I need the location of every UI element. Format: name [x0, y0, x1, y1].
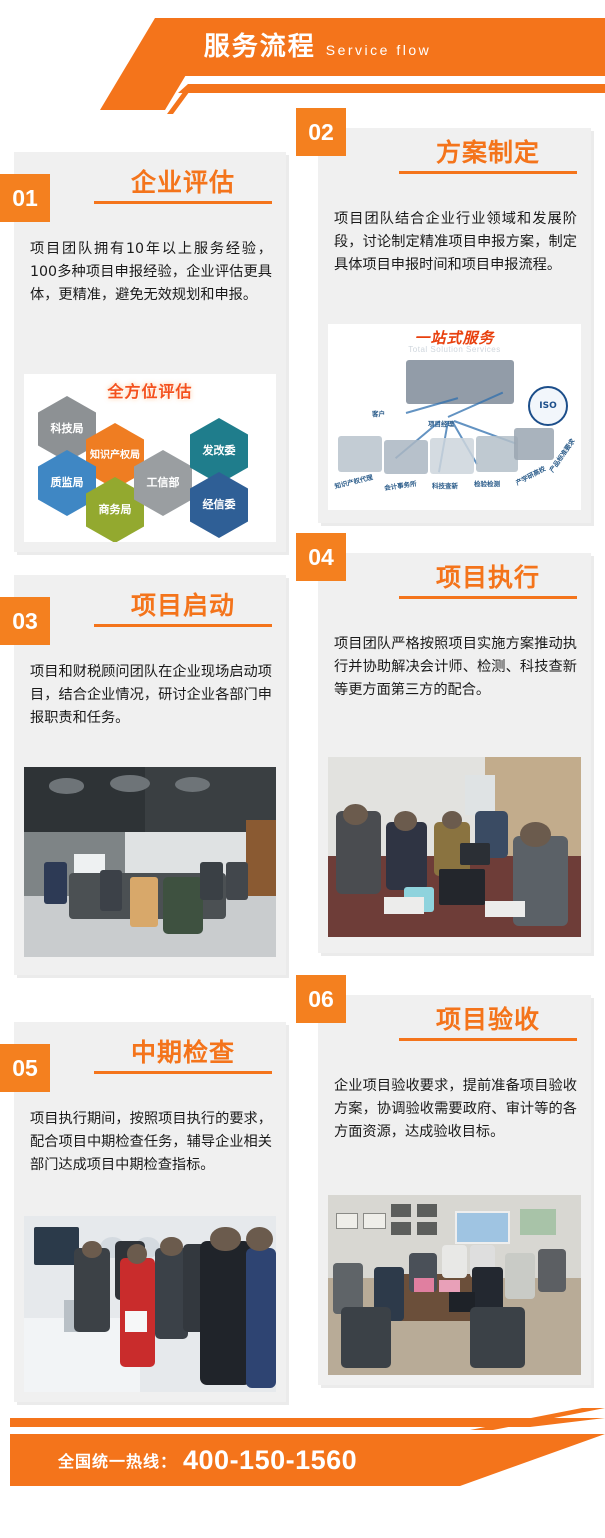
service-thumb-4 [476, 436, 518, 472]
page-header: 服务流程 Service flow [0, 0, 605, 108]
title-underline-01 [94, 201, 272, 204]
service-flow-page: 服务流程 Service flow 01 企业评估 项目团队拥有10年以上服务经… [0, 0, 605, 1538]
step-body-02: 项目团队结合企业行业领域和发展阶段，讨论制定精准项目申报方案，制定具体项目申报时… [334, 208, 577, 277]
step-body-03: 项目和财税顾问团队在企业现场启动项目，结合企业情况，研讨企业各部门申报职责和任务… [30, 661, 272, 730]
conference-room-meeting-photo [24, 767, 276, 957]
service-node-kehu: 客户 [372, 408, 385, 418]
step-title-01: 企业评估 [94, 170, 272, 196]
step-number-badge-04: 04 [296, 533, 346, 581]
header-stripe [178, 84, 605, 93]
step-title-05: 中期检查 [94, 1040, 272, 1066]
step-number-badge-01: 01 [0, 174, 50, 222]
title-underline-06 [399, 1038, 577, 1041]
title-underline-03 [94, 624, 272, 627]
step-title-group-01: 企业评估 [94, 170, 272, 204]
showroom-site-visit-photo [24, 1216, 276, 1392]
step-body-04: 项目团队严格按照项目实施方案推动执行并协助解决会计师、检测、科技查新等更方面第三… [334, 633, 577, 702]
service-node-accounting: 会计事务所 [383, 478, 417, 492]
service-node-xiangmujingli: 项目经理 [428, 418, 454, 428]
step-title-03: 项目启动 [94, 593, 272, 619]
hex-chart-title: 全方位评估 [107, 378, 192, 402]
page-title: 服务流程 [204, 34, 316, 60]
iso-seal-icon: ISO [528, 386, 568, 426]
acceptance-review-meeting-photo [328, 1195, 581, 1375]
hotline-group: 全国统一热线： 400-150-1560 [58, 1434, 357, 1486]
step-title-group-05: 中期检查 [94, 1040, 272, 1074]
service-hub-photo [406, 360, 514, 404]
step-title-06: 项目验收 [399, 1007, 577, 1033]
step-card-05: 05 中期检查 项目执行期间，按照项目执行的要求，配合项目中期检查任务，辅导企业… [14, 1022, 286, 1402]
title-underline-04 [399, 596, 577, 599]
footer-stripe [10, 1418, 605, 1427]
team-working-laptops-photo [328, 757, 581, 937]
page-footer: 全国统一热线： 400-150-1560 [0, 1408, 605, 1538]
service-thumb-1 [338, 436, 382, 472]
step-title-04: 项目执行 [399, 565, 577, 591]
hex-node-jingxin: 经信委 [190, 472, 248, 538]
page-subtitle: Service flow [326, 37, 431, 58]
hotline-number[interactable]: 400-150-1560 [183, 1445, 357, 1476]
service-thumb-3 [430, 438, 474, 474]
title-underline-05 [94, 1071, 272, 1074]
service-diagram-subtitle: Total Solution Services [408, 345, 500, 354]
step-body-01: 项目团队拥有10年以上服务经验，100多种项目申报经验，企业评估更具体，更精准，… [30, 238, 272, 307]
step-number-badge-06: 06 [296, 975, 346, 1023]
step-number-badge-05: 05 [0, 1044, 50, 1092]
step-title-group-02: 方案制定 [399, 140, 577, 174]
step-title-group-03: 项目启动 [94, 593, 272, 627]
service-thumb-5 [514, 428, 554, 460]
hexagon-assessment-chart: 全方位评估 科技局 知识产权局 质监局 商务局 工信部 发改委 经信委 [24, 374, 276, 542]
step-card-02: 02 方案制定 项目团队结合企业行业领域和发展阶段，讨论制定精准项目申报方案，制… [318, 128, 591, 523]
service-node-inspection: 检验检测 [474, 478, 500, 488]
service-node-novelty: 科技查新 [432, 480, 458, 490]
step-card-03: 03 项目启动 项目和财税顾问团队在企业现场启动项目，结合企业情况，研讨企业各部… [14, 575, 286, 975]
step-card-01: 01 企业评估 项目团队拥有10年以上服务经验，100多种项目申报经验，企业评估… [14, 152, 286, 552]
step-card-06: 06 项目验收 企业项目验收要求，提前准备项目验收方案，协调验收需要政府、审计等… [318, 995, 591, 1385]
one-stop-service-diagram: 一站式服务 Total Solution Services 客户 项目经理 IS… [328, 324, 581, 510]
step-body-06: 企业项目验收要求，提前准备项目验收方案，协调验收需要政府、审计等的各方面资源，达… [334, 1075, 577, 1144]
title-underline-02 [399, 171, 577, 174]
step-card-04: 04 项目执行 项目团队严格按照项目实施方案推动执行并协助解决会计师、检测、科技… [318, 553, 591, 953]
header-title-group: 服务流程 Service flow [0, 18, 605, 76]
hotline-label: 全国统一热线： [58, 1448, 177, 1472]
step-title-group-04: 项目执行 [399, 565, 577, 599]
service-node-ipagent: 知识产权代理 [333, 471, 373, 490]
service-thumb-2 [384, 440, 428, 474]
step-title-02: 方案制定 [399, 140, 577, 166]
step-number-badge-03: 03 [0, 597, 50, 645]
step-number-badge-02: 02 [296, 108, 346, 156]
step-title-group-06: 项目验收 [399, 1007, 577, 1041]
service-node-university: 产学研高校 [514, 463, 547, 487]
step-body-05: 项目执行期间，按照项目执行的要求，配合项目中期检查任务，辅导企业相关部门达成项目… [30, 1108, 272, 1177]
